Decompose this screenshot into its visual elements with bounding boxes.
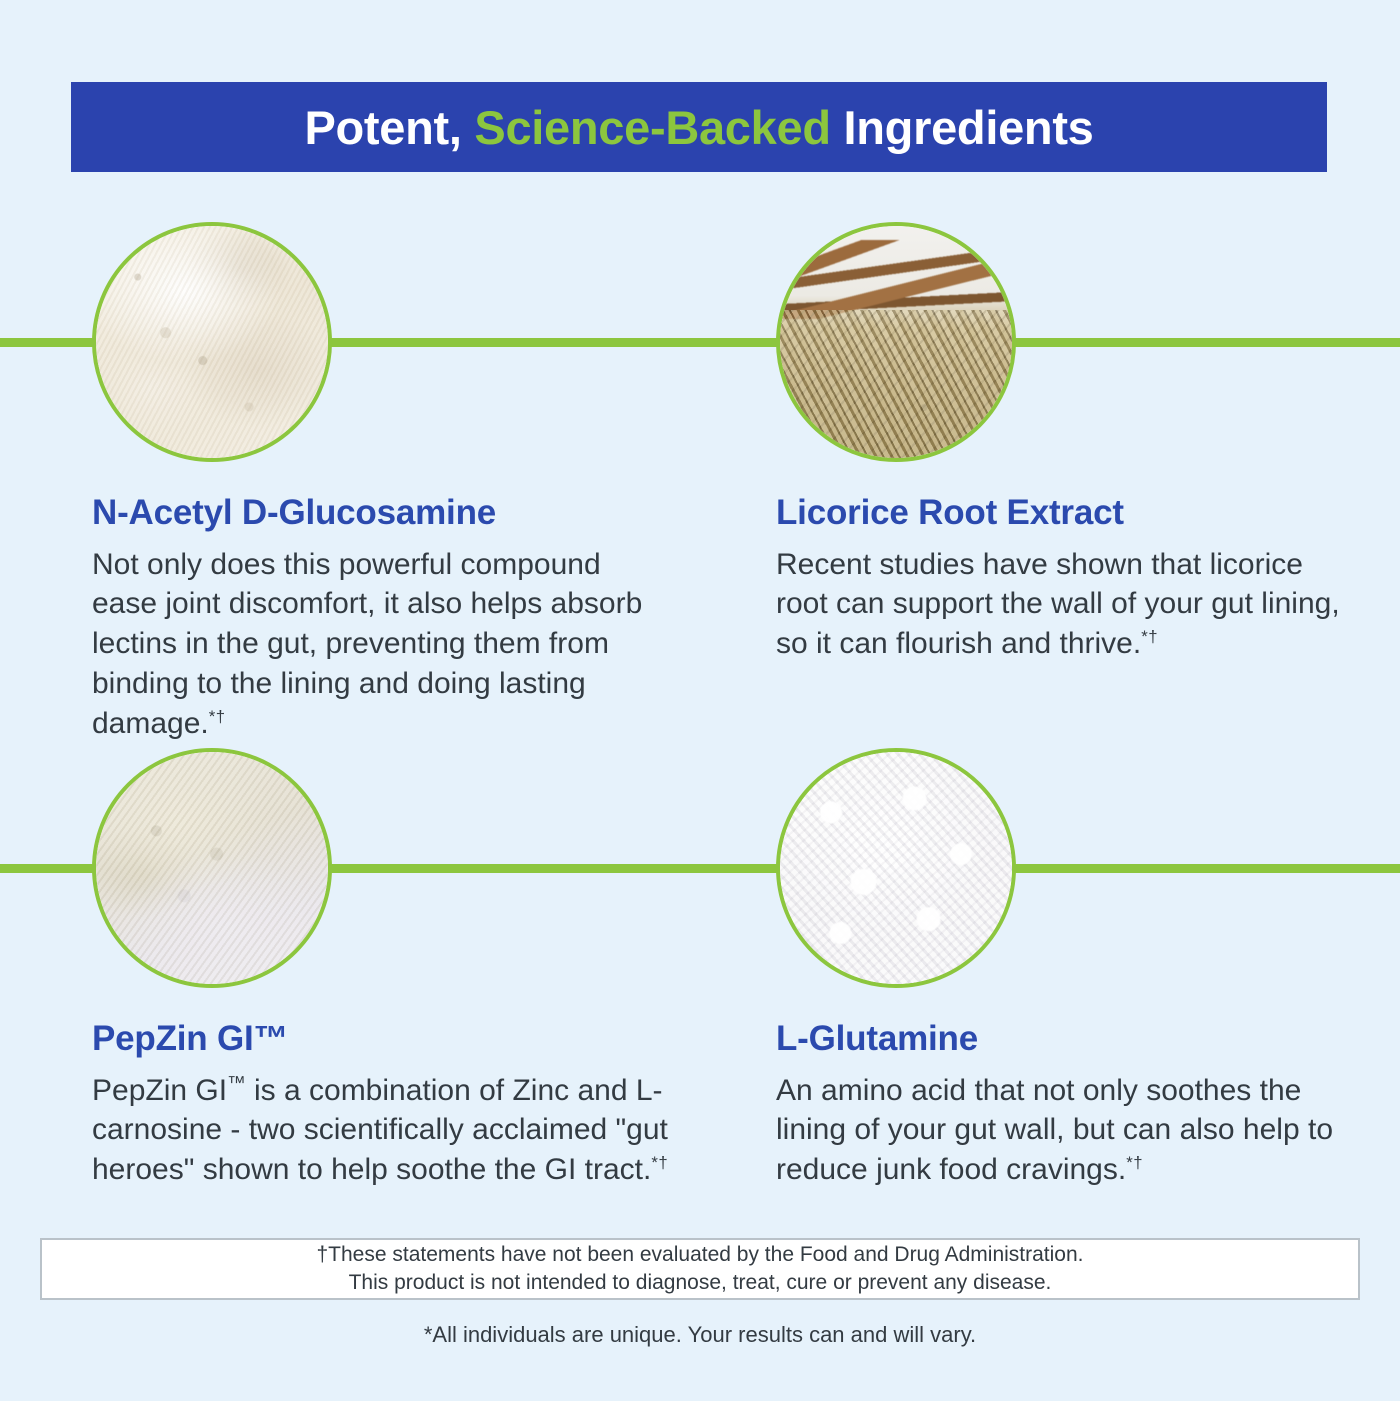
ingredient-description-text: Recent studies have shown that licorice … bbox=[776, 548, 1340, 661]
ingredient-card-pepzin-gi: PepZin GI™ PepZin GI™ is a combination o… bbox=[92, 748, 712, 1190]
ingredient-description: An amino acid that not only soothes the … bbox=[776, 1071, 1356, 1191]
n-acetyl-d-glucosamine-powder-photo bbox=[96, 226, 328, 458]
fda-disclaimer-line-1: †These statements have not been evaluate… bbox=[317, 1241, 1084, 1269]
ingredient-heading: L-Glutamine bbox=[776, 1020, 1396, 1059]
ingredient-image-circle bbox=[92, 222, 332, 462]
footnote-marker: *† bbox=[209, 707, 226, 726]
ingredient-card-n-acetyl-d-glucosamine: N-Acetyl D-Glucosamine Not only does thi… bbox=[92, 222, 712, 744]
ingredient-description-text: Not only does this powerful compound eas… bbox=[92, 548, 642, 741]
fda-disclaimer-line-2: This product is not intended to diagnose… bbox=[349, 1269, 1052, 1297]
ingredient-image-circle bbox=[776, 222, 1016, 462]
ingredient-card-licorice-root-extract: Licorice Root Extract Recent studies hav… bbox=[776, 222, 1396, 664]
l-glutamine-crystals-photo bbox=[780, 752, 1012, 984]
ingredient-heading: PepZin GI™ bbox=[92, 1020, 712, 1059]
ingredient-image-circle bbox=[92, 748, 332, 988]
ingredient-grid: N-Acetyl D-Glucosamine Not only does thi… bbox=[0, 0, 1400, 1401]
ingredient-description: Recent studies have shown that licorice … bbox=[776, 545, 1356, 665]
ingredient-description-prefix: PepZin GI bbox=[92, 1074, 227, 1107]
ingredient-description: PepZin GI™ is a combination of Zinc and … bbox=[92, 1071, 672, 1191]
licorice-root-extract-photo bbox=[780, 226, 1012, 458]
ingredient-card-l-glutamine: L-Glutamine An amino acid that not only … bbox=[776, 748, 1396, 1190]
ingredient-heading: N-Acetyl D-Glucosamine bbox=[92, 494, 712, 533]
fda-disclaimer-box: †These statements have not been evaluate… bbox=[40, 1238, 1360, 1300]
ingredient-description: Not only does this powerful compound eas… bbox=[92, 545, 672, 744]
footnote-marker: *† bbox=[1141, 627, 1158, 646]
ingredient-heading: Licorice Root Extract bbox=[776, 494, 1396, 533]
ingredient-image-circle bbox=[776, 748, 1016, 988]
results-vary-note: *All individuals are unique. Your result… bbox=[0, 1322, 1400, 1348]
trademark-symbol: ™ bbox=[227, 1072, 246, 1093]
footnote-marker: *† bbox=[1126, 1153, 1143, 1172]
footnote-marker: *† bbox=[651, 1153, 668, 1172]
ingredient-description-text: An amino acid that not only soothes the … bbox=[776, 1074, 1333, 1187]
pepzin-gi-powder-photo bbox=[96, 752, 328, 984]
